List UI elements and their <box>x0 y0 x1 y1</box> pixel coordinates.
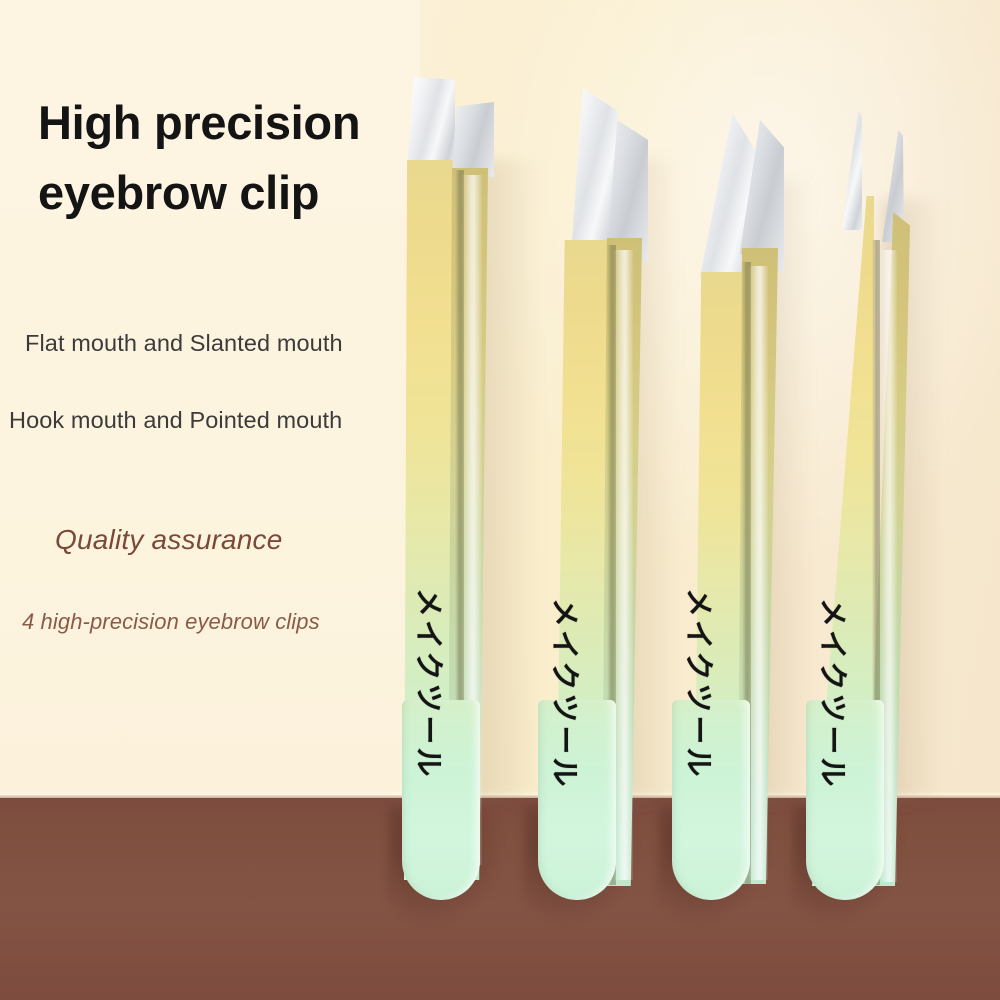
feature-line-1: Flat mouth and Slanted mouth <box>25 330 343 357</box>
feature-line-2: Hook mouth and Pointed mouth <box>9 407 342 434</box>
quality-assurance-title: Quality assurance <box>55 524 283 556</box>
tweezer-1-handle-label: メイクツール <box>410 588 452 779</box>
tweezer-1-right-tip <box>452 102 494 177</box>
tweezer-4-handle-label: メイクツール <box>814 598 856 789</box>
product-image: メイクツール メイクツール メイクツール <box>0 0 1000 1000</box>
page-title: High precision eyebrow clip <box>38 88 428 227</box>
headline-line-2: eyebrow clip <box>38 158 428 228</box>
headline-line-1: High precision <box>38 88 428 158</box>
tweezer-2-handle-label: メイクツール <box>546 598 588 789</box>
quality-assurance-subtitle: 4 high-precision eyebrow clips <box>22 609 320 635</box>
tweezer-3-handle-label: メイクツール <box>680 588 722 779</box>
